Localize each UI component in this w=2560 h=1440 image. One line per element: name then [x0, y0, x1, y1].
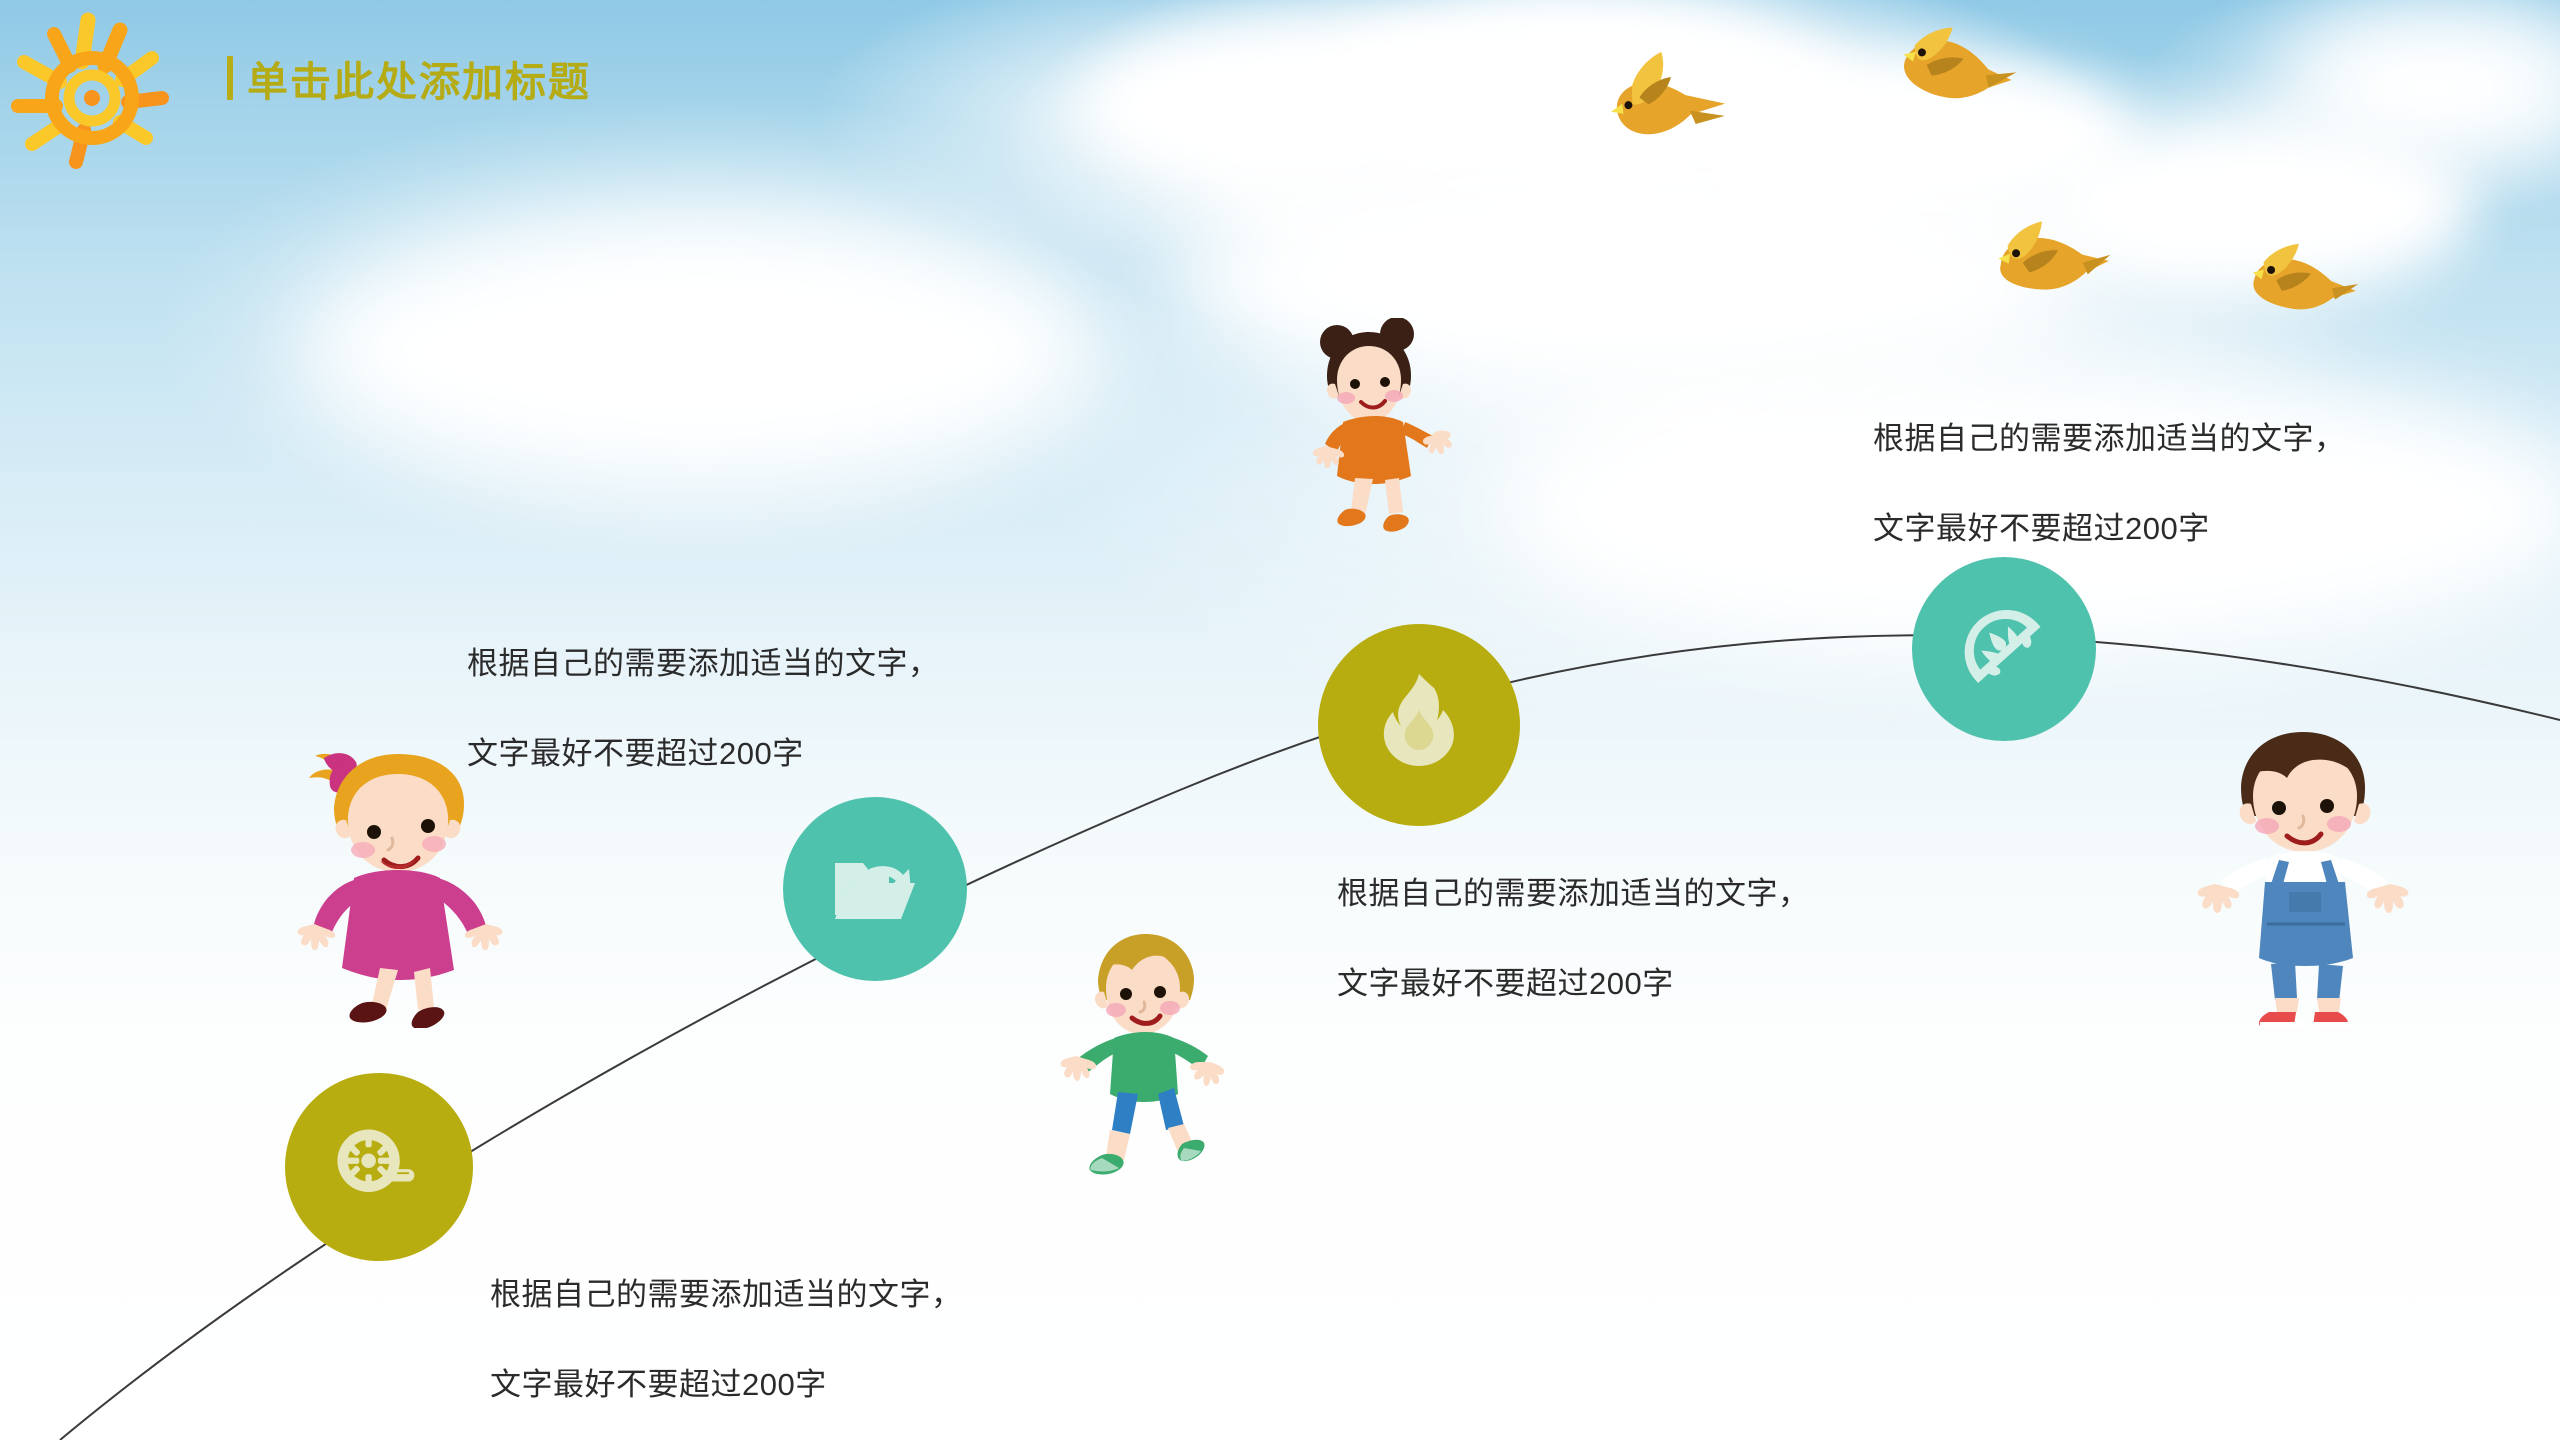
- kid-girl-orange: [1293, 318, 1463, 558]
- bird-1: [1593, 39, 1736, 159]
- caption-line-1: 根据自己的需要添加适当的文字，: [1873, 417, 2346, 462]
- node-flame[interactable]: [1318, 624, 1520, 826]
- girl-pink-dress-illustration: [288, 728, 503, 1028]
- bird-2: [1885, 13, 2025, 131]
- slide-title-group: 单击此处添加标题: [227, 48, 591, 108]
- caption-line-2: 文字最好不要超过200字: [490, 1363, 963, 1408]
- caption-flame: 根据自己的需要添加适当的文字， 文字最好不要超过200字: [1337, 827, 1810, 1052]
- boy-green-shirt-illustration: [1058, 928, 1248, 1203]
- title-accent-rule: [227, 56, 233, 100]
- bird-icon: [1885, 13, 2025, 126]
- node-film[interactable]: [285, 1073, 473, 1261]
- bird-icon: [2237, 234, 2363, 334]
- caption-line-1: 根据自己的需要添加适当的文字，: [490, 1273, 963, 1318]
- caption-film: 根据自己的需要添加适当的文字， 文字最好不要超过200字: [490, 1228, 963, 1440]
- girl-orange-dress-illustration: [1293, 318, 1463, 558]
- sun-logo: [10, 10, 180, 170]
- kid-boy-overalls: [2195, 728, 2415, 1040]
- caption-folder: 根据自己的需要添加适当的文字， 文字最好不要超过200字: [467, 597, 940, 822]
- cloud-shape: [300, 220, 1100, 480]
- bird-icon: [1982, 211, 2116, 316]
- slide-canvas: 单击此处添加标题: [0, 0, 2560, 1440]
- flame-icon: [1368, 670, 1470, 780]
- kid-girl-pink: [288, 728, 503, 1028]
- caption-line-1: 根据自己的需要添加适当的文字，: [1337, 872, 1810, 917]
- node-folder[interactable]: [783, 797, 967, 981]
- bird-3: [1982, 211, 2117, 321]
- folder-open-icon: [825, 839, 925, 939]
- kid-boy-green: [1058, 928, 1248, 1203]
- bird-4: [2237, 234, 2363, 339]
- caption-line-2: 文字最好不要超过200字: [467, 732, 940, 777]
- caption-line-2: 文字最好不要超过200字: [1873, 507, 2346, 552]
- boy-blue-overalls-illustration: [2195, 728, 2415, 1040]
- citrus-slice-icon: [1954, 599, 2054, 699]
- caption-line-2: 文字最好不要超过200字: [1337, 962, 1810, 1007]
- bird-icon: [1593, 39, 1735, 154]
- caption-line-1: 根据自己的需要添加适当的文字，: [467, 642, 940, 687]
- film-reel-icon: [327, 1115, 431, 1219]
- caption-citrus: 根据自己的需要添加适当的文字， 文字最好不要超过200字: [1873, 372, 2346, 597]
- page-title: 单击此处添加标题: [247, 48, 591, 108]
